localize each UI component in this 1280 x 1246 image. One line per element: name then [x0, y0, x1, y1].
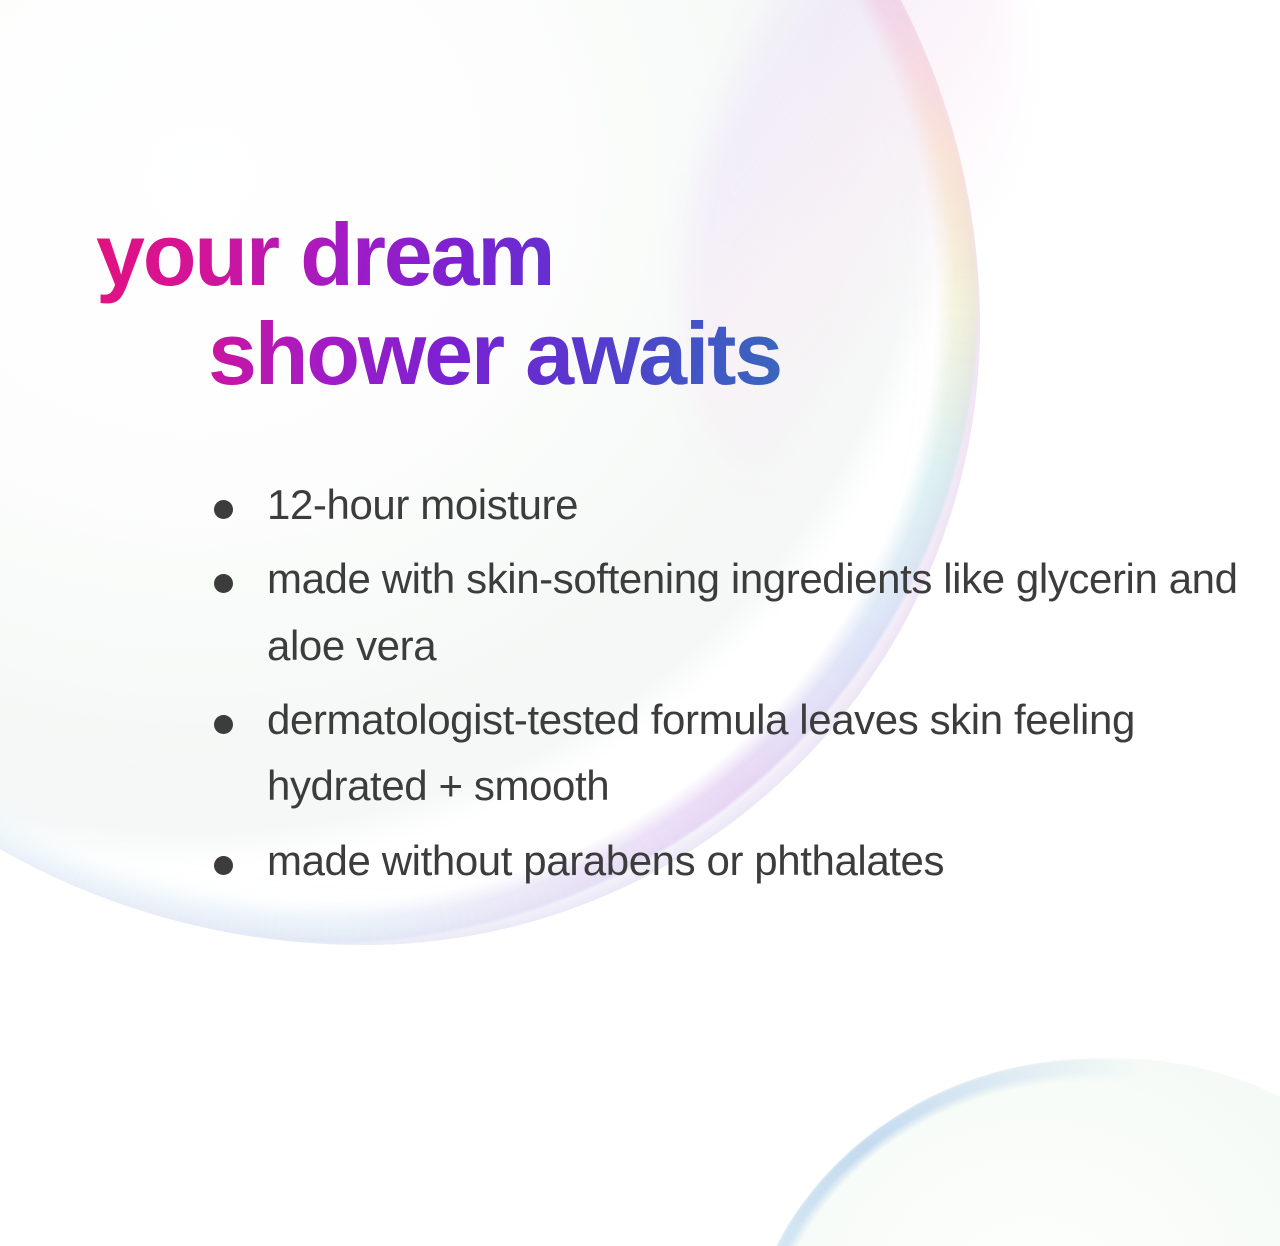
list-item: made without parabens or phthalates — [205, 828, 1265, 894]
list-item-label: dermatologist-tested formula leaves skin… — [267, 687, 1265, 820]
bullet-dot-icon — [214, 500, 233, 519]
promo-content: your dream shower awaits 12-hour moistur… — [0, 0, 1280, 1246]
list-item: made with skin-softening ingredients lik… — [205, 546, 1265, 679]
list-item-label: made with skin-softening ingredients lik… — [267, 546, 1265, 679]
list-item: dermatologist-tested formula leaves skin… — [205, 687, 1265, 820]
bullet-dot-icon — [214, 856, 233, 875]
list-item-label: 12-hour moisture — [267, 472, 1265, 538]
feature-list: 12-hour moisture made with skin-softenin… — [205, 472, 1265, 902]
bullet-dot-icon — [214, 574, 233, 593]
list-item-label: made without parabens or phthalates — [267, 828, 1265, 894]
headline-line-2: shower awaits — [208, 305, 1096, 404]
headline-line-1: your dream — [96, 206, 1096, 305]
list-item: 12-hour moisture — [205, 472, 1265, 538]
page-title: your dream shower awaits — [96, 206, 1096, 403]
bullet-dot-icon — [214, 715, 233, 734]
promo-canvas: your dream shower awaits 12-hour moistur… — [0, 0, 1280, 1246]
